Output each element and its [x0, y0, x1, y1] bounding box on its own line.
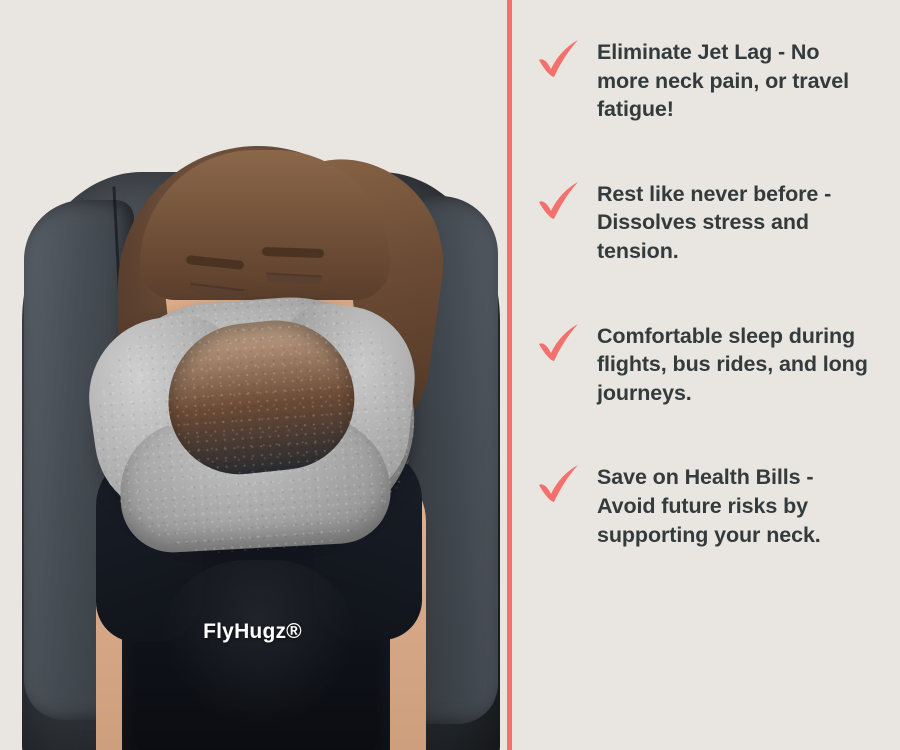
- benefit-item-save-on-health-bills: Save on Health Bills - Avoid future risk…: [535, 463, 872, 549]
- check-icon: [535, 176, 583, 224]
- benefit-item-eliminate-jet-lag: Eliminate Jet Lag - No more neck pain, o…: [535, 38, 872, 124]
- check-icon: [535, 318, 583, 366]
- check-icon: [535, 459, 583, 507]
- product-benefits-banner: FlyHugz® Eliminate Jet Lag - No more nec…: [0, 0, 900, 750]
- benefits-panel: Eliminate Jet Lag - No more neck pain, o…: [505, 0, 900, 750]
- benefit-text: Comfortable sleep during flights, bus ri…: [597, 322, 872, 408]
- benefit-item-rest-like-never-before: Rest like never before - Dissolves stres…: [535, 180, 872, 266]
- benefit-text: Eliminate Jet Lag - No more neck pain, o…: [597, 38, 872, 124]
- product-photo: FlyHugz®: [0, 0, 505, 750]
- product-photo-panel: FlyHugz®: [0, 0, 505, 750]
- benefit-text: Rest like never before - Dissolves stres…: [597, 180, 872, 266]
- model-shirt-highlight: [160, 560, 358, 730]
- benefit-text: Save on Health Bills - Avoid future risk…: [597, 463, 872, 549]
- check-icon: [535, 34, 583, 82]
- benefit-item-comfortable-sleep: Comfortable sleep during flights, bus ri…: [535, 322, 872, 408]
- brand-overlay-label: FlyHugz®: [0, 620, 505, 644]
